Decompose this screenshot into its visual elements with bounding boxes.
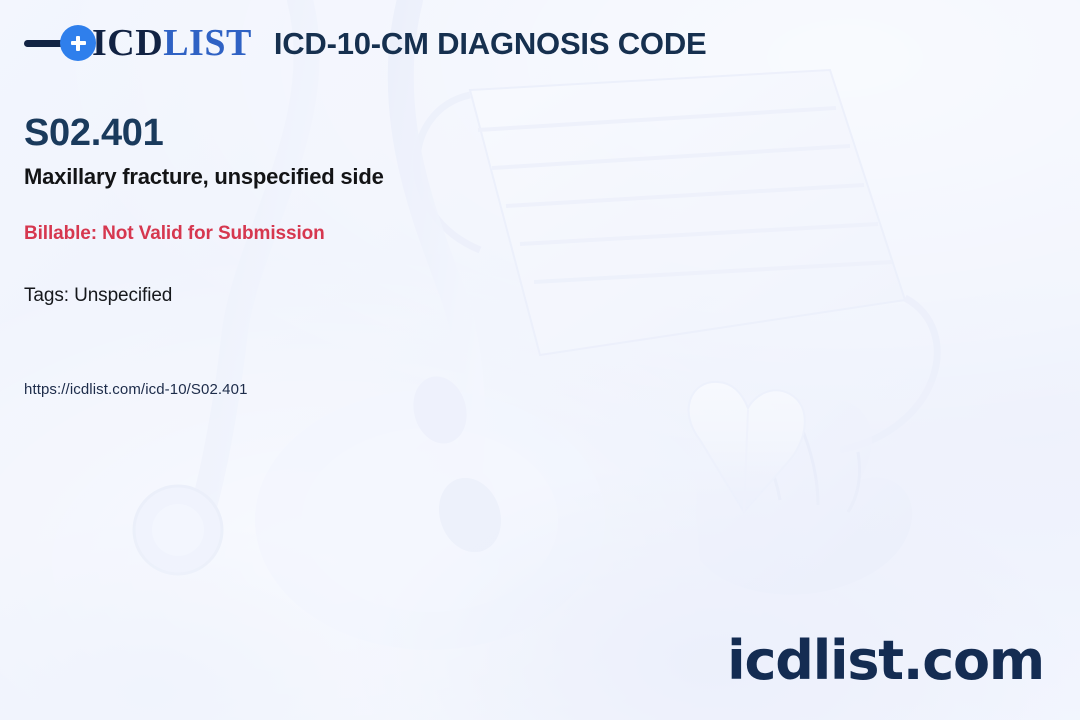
page-title: ICD-10-CM DIAGNOSIS CODE [274, 28, 707, 59]
plus-circle-icon [60, 25, 96, 61]
page-header: ICDLIST ICD-10-CM DIAGNOSIS CODE [24, 24, 707, 62]
logo-wordmark-secondary: LIST [163, 22, 252, 64]
diagnosis-code: S02.401 [24, 114, 163, 152]
logo-wordmark-primary: ICD [92, 22, 163, 64]
billable-status-badge: Billable: Not Valid for Submission [24, 224, 325, 243]
site-watermark: icdlist.com [727, 634, 1044, 688]
source-url[interactable]: https://icdlist.com/icd-10/S02.401 [24, 382, 248, 397]
icdlist-logo[interactable]: ICDLIST [24, 24, 252, 62]
diagnosis-description: Maxillary fracture, unspecified side [24, 166, 384, 188]
tags-label: Tags: Unspecified [24, 286, 172, 305]
logo-wordmark: ICDLIST [92, 24, 252, 62]
